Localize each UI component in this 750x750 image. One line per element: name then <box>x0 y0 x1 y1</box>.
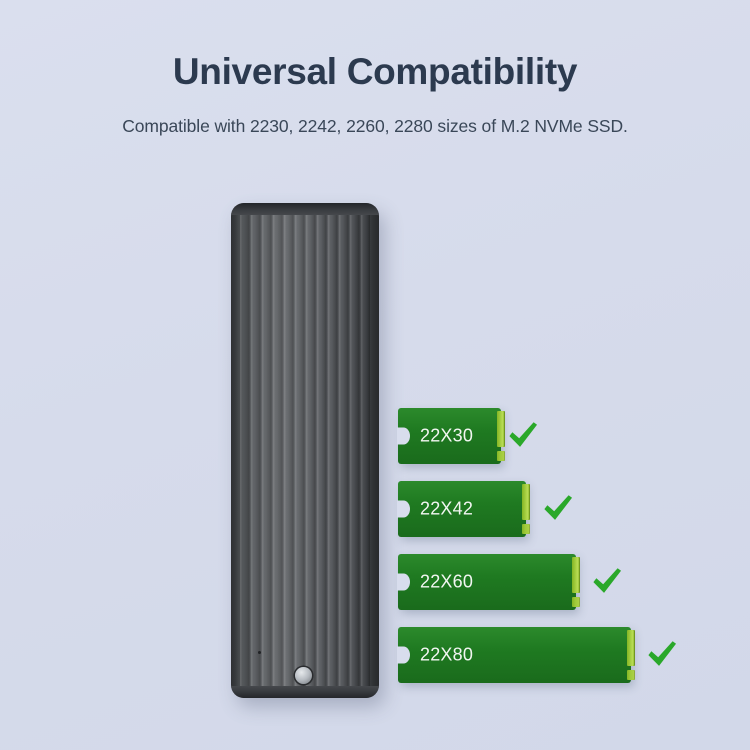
ssd-card-2230: 22X30 <box>398 408 501 464</box>
enclosure-heatsink-ribs <box>240 212 370 689</box>
check-icon <box>645 637 679 671</box>
page-subtitle: Compatible with 2230, 2242, 2260, 2280 s… <box>0 114 750 138</box>
edge-connector-key-segment <box>627 670 635 680</box>
edge-connector-pins <box>522 484 530 520</box>
edge-connector-pins <box>497 411 505 447</box>
edge-connector-pins <box>627 630 635 666</box>
ssd-card-2260: 22X60 <box>398 554 576 610</box>
ssd-card-label: 22X30 <box>420 426 473 447</box>
edge-connector-key-segment <box>522 524 530 534</box>
check-icon <box>541 491 575 525</box>
mounting-notch-icon <box>397 574 410 591</box>
mounting-notch-icon <box>397 647 410 664</box>
edge-connector-key-segment <box>572 597 580 607</box>
enclosure-bottom-bevel <box>231 686 379 698</box>
enclosure-top-bevel <box>231 203 379 215</box>
edge-connector-key-segment <box>497 451 505 461</box>
check-icon <box>506 418 540 452</box>
ssd-enclosure-product-image <box>231 203 379 698</box>
enclosure-screw <box>295 667 312 684</box>
mounting-notch-icon <box>397 501 410 518</box>
ssd-card-label: 22X80 <box>420 645 473 666</box>
ssd-card-label: 22X60 <box>420 572 473 593</box>
mounting-notch-icon <box>397 428 410 445</box>
check-icon <box>590 564 624 598</box>
ssd-card-label: 22X42 <box>420 499 473 520</box>
promo-banner: Universal Compatibility Compatible with … <box>0 0 750 750</box>
ssd-card-2280: 22X80 <box>398 627 631 683</box>
led-indicator-dot <box>258 651 261 654</box>
page-title: Universal Compatibility <box>0 50 750 94</box>
ssd-card-2242: 22X42 <box>398 481 526 537</box>
edge-connector-pins <box>572 557 580 593</box>
